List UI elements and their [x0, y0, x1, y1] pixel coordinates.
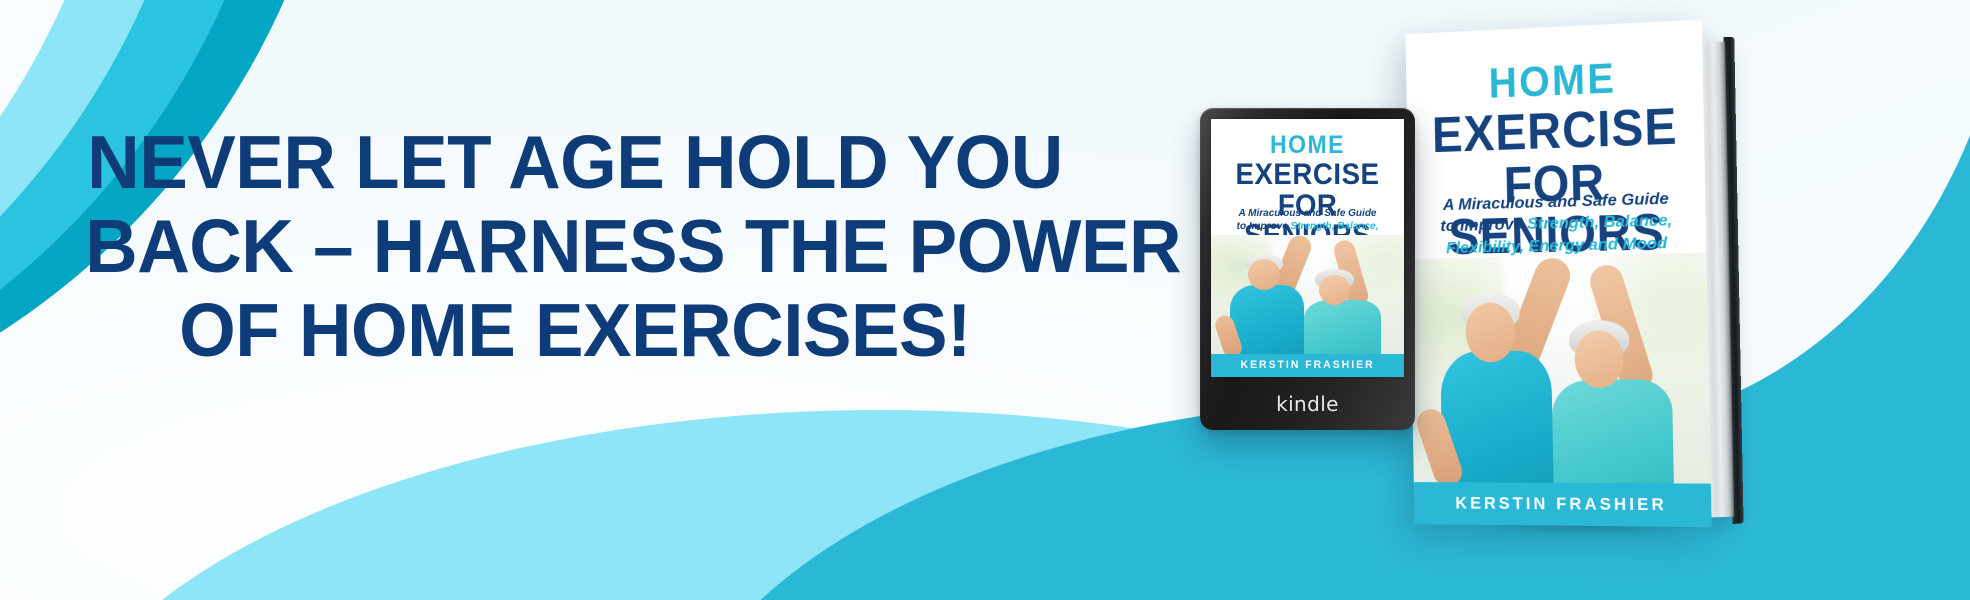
print-woman-head — [1575, 331, 1624, 388]
woman-head — [1319, 275, 1350, 305]
cover-author-band: KERSTIN FRASHIER — [1211, 354, 1404, 377]
print-cover-artwork: HOME EXERCISE FOR SENIORS A Miraculous a… — [1405, 20, 1711, 528]
headline-line-2: BACK – HARNESS THE POWER — [85, 204, 1065, 288]
promo-banner: NEVER LET AGE HOLD YOU BACK – HARNESS TH… — [0, 0, 1970, 600]
hardcover-book[interactable]: HOME EXERCISE FOR SENIORS A Miraculous a… — [1410, 34, 1765, 524]
print-man-head — [1465, 303, 1516, 362]
headline-line-3: OF HOME EXERCISES! — [85, 288, 1065, 372]
cover-author-name: KERSTIN FRASHIER — [1240, 359, 1374, 371]
cover-subtitle-line-2-lead: to Improve — [1237, 221, 1291, 232]
cover-subtitle-line-2-accent: Strength, Balance, — [1291, 221, 1379, 232]
product-group: HOME EXERCISE FOR SENIORS A Miraculous a… — [1070, 0, 1970, 600]
kindle-device[interactable]: HOME EXERCISE FOR SENIORS A Miraculous a… — [1200, 108, 1415, 430]
cover-title-home: HOME — [1219, 133, 1397, 158]
cover-title-exercise: EXERCISE — [1219, 160, 1397, 190]
print-subtitle-line-1: A Miraculous and Safe Guide — [1443, 190, 1669, 214]
print-cover-author-band: KERSTIN FRASHIER — [1414, 482, 1712, 527]
print-cover-subtitle: A Miraculous and Safe Guide to Improve S… — [1429, 188, 1685, 260]
kindle-screen: HOME EXERCISE FOR SENIORS A Miraculous a… — [1211, 119, 1404, 377]
print-title-exercise: EXERCISE — [1418, 100, 1692, 161]
banner-headline: NEVER LET AGE HOLD YOU BACK – HARNESS TH… — [85, 120, 1065, 372]
kindle-wordmark: kindle — [1200, 392, 1415, 416]
book-front-cover: HOME EXERCISE FOR SENIORS A Miraculous a… — [1405, 20, 1711, 528]
print-subtitle-line-2-accent: Strength, Balance, — [1527, 212, 1673, 233]
ebook-cover-artwork: HOME EXERCISE FOR SENIORS A Miraculous a… — [1211, 119, 1404, 377]
headline-line-1: NEVER LET AGE HOLD YOU — [85, 120, 1065, 204]
cover-subtitle-line-1: A Miraculous and Safe Guide — [1239, 208, 1377, 219]
print-subtitle-line-2-lead: to Improve — [1440, 216, 1527, 235]
print-cover-author-name: KERSTIN FRASHIER — [1456, 494, 1668, 516]
